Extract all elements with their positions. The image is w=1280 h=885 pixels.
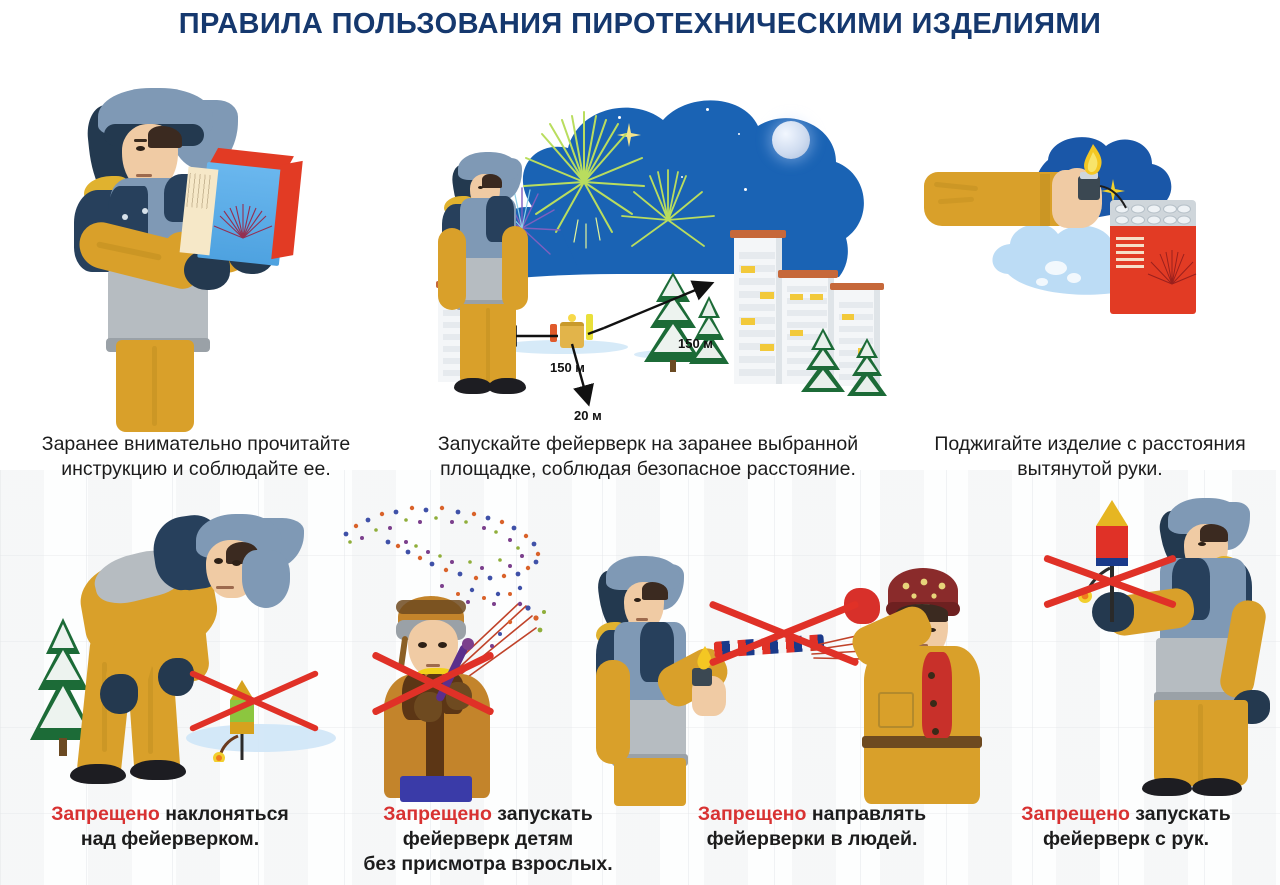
distance-label-down: 20 м <box>574 408 602 423</box>
caption-line: площадке, соблюдая безопасное расстояние… <box>398 457 898 482</box>
illustration-man-reading-instruction <box>60 82 340 432</box>
caption-no-leaning-over: Запрещено наклоняться над фейерверком. <box>14 802 326 852</box>
boot-back <box>70 764 126 784</box>
caption-line: фейерверки в людей. <box>656 827 968 852</box>
child-firework-tip <box>462 638 474 650</box>
firework-battery-burst-graphic <box>1146 242 1198 296</box>
illustration-lighting-arm-length <box>900 130 1200 320</box>
forbidden-word: Запрещено <box>1021 803 1130 825</box>
caption-line: без присмотра взрослых. <box>330 852 646 877</box>
victim-coat-belt <box>862 736 982 748</box>
caption-line: Запрещено запускать <box>330 802 646 827</box>
child-mouth <box>426 664 440 667</box>
caption-no-aiming-at-people: Запрещено направлять фейерверки в людей. <box>656 802 968 852</box>
victim-button-3 <box>932 728 939 735</box>
caption-line: Запрещено наклоняться <box>14 802 326 827</box>
firework-burst-graphic-on-box <box>210 192 276 250</box>
distance-label-left: 150 м <box>550 360 585 375</box>
mouth <box>136 174 152 177</box>
firework-battery-label-lines <box>1116 234 1144 268</box>
victim-button-1 <box>928 672 935 679</box>
illustration-night-launch-site: 150 м 150 м 20 м <box>438 78 888 430</box>
p2-eye <box>478 186 483 189</box>
b3-hair <box>642 582 668 600</box>
mitten-bent-right <box>158 658 194 696</box>
caption-rest: запускать <box>492 803 593 825</box>
p2-arm-left <box>438 228 466 310</box>
child-hat-brim <box>396 600 466 614</box>
child-eye-left <box>418 642 427 648</box>
illustration-no-aiming-at-people <box>596 538 1006 806</box>
eyebrow <box>134 139 147 142</box>
eye-bent-right <box>232 560 241 566</box>
illustration-no-launch-from-hands <box>1022 492 1280 802</box>
ushanka-ear-flap <box>242 550 290 608</box>
b3-eye <box>634 598 641 602</box>
p2-boot-left <box>454 378 492 394</box>
lighter-flame <box>1080 144 1106 178</box>
caption-line: над фейерверком. <box>14 827 326 852</box>
b4-hair <box>1200 524 1228 542</box>
caption-line: вытянутой руки. <box>908 457 1272 482</box>
eye-bent-left <box>214 558 223 564</box>
caption-line: Запрещено запускать <box>976 802 1276 827</box>
lighter-body <box>1078 176 1100 200</box>
poster-root: ПРАВИЛА ПОЛЬЗОВАНИЯ ПИРОТЕХНИЧЕСКИМИ ИЗД… <box>0 0 1280 885</box>
illustration-no-children-unsupervised <box>322 494 622 802</box>
caption-safe-launch-site: Запускайте фейерверк на заранее выбранно… <box>398 432 898 482</box>
forbidden-word: Запрещено <box>698 803 807 825</box>
caption-line: Заранее внимательно прочитайте <box>0 432 392 457</box>
caption-line: Запрещено направлять <box>656 802 968 827</box>
caption-rest: наклоняться <box>160 803 289 825</box>
caption-read-instruction: Заранее внимательно прочитайте инструкци… <box>0 432 392 482</box>
boot-front <box>130 760 186 780</box>
caption-line: инструкцию и соблюдайте ее. <box>0 457 392 482</box>
forbidden-word: Запрещено <box>383 803 492 825</box>
p2-hair <box>482 174 502 188</box>
coat-button-upper <box>142 208 148 214</box>
child-trousers <box>400 776 472 802</box>
p2-arm-right <box>502 226 528 310</box>
illustration-no-leaning-over <box>10 492 340 802</box>
victim-scarf-red <box>922 652 952 738</box>
b4-leg-crease <box>1198 704 1203 784</box>
rocket-in-hand <box>1072 498 1152 628</box>
mitten-bent-left <box>100 674 138 714</box>
caption-line: Запускайте фейерверк на заранее выбранно… <box>398 432 898 457</box>
leg-crease <box>152 346 157 426</box>
b4-boot-right <box>1192 778 1242 796</box>
caption-no-children-unsupervised: Запрещено запускать фейерверк детям без … <box>330 802 646 877</box>
coat-button-lower <box>122 214 128 220</box>
caption-light-arm-length: Поджигайте изделие с расстояния вытянуто… <box>908 432 1272 482</box>
b3-arm-hanging <box>596 660 630 764</box>
caption-rest: направлять <box>806 803 926 825</box>
caption-line: Поджигайте изделие с расстояния <box>908 432 1272 457</box>
b3-mouth <box>636 618 648 621</box>
b3-legs <box>614 758 686 806</box>
mouth-bent <box>216 586 234 589</box>
caption-no-launch-from-hands: Запрещено запускать фейерверк с рук. <box>976 802 1276 852</box>
p2-leg-crease <box>486 308 490 382</box>
forbidden-word: Запрещено <box>51 803 160 825</box>
caption-line: фейерверк детям <box>330 827 646 852</box>
b4-eye <box>1198 542 1206 546</box>
distance-label-right: 150 м <box>678 336 713 351</box>
caption-line: фейерверк с рук. <box>976 827 1276 852</box>
victim-coat-pocket <box>878 692 914 728</box>
sleeve-cuff <box>1040 174 1050 226</box>
eye <box>136 146 145 151</box>
victim-button-2 <box>930 700 937 707</box>
caption-rest: запускать <box>1130 803 1231 825</box>
b4-boot-left <box>1142 778 1192 796</box>
fuse-wire <box>1098 182 1146 212</box>
leaflet-text-lines <box>186 173 211 209</box>
poster-title: ПРАВИЛА ПОЛЬЗОВАНИЯ ПИРОТЕХНИЧЕСКИМИ ИЗД… <box>0 8 1280 41</box>
leg-crease-b <box>148 666 153 754</box>
child-eye-right <box>438 642 447 648</box>
p2-boot-right <box>488 378 526 394</box>
